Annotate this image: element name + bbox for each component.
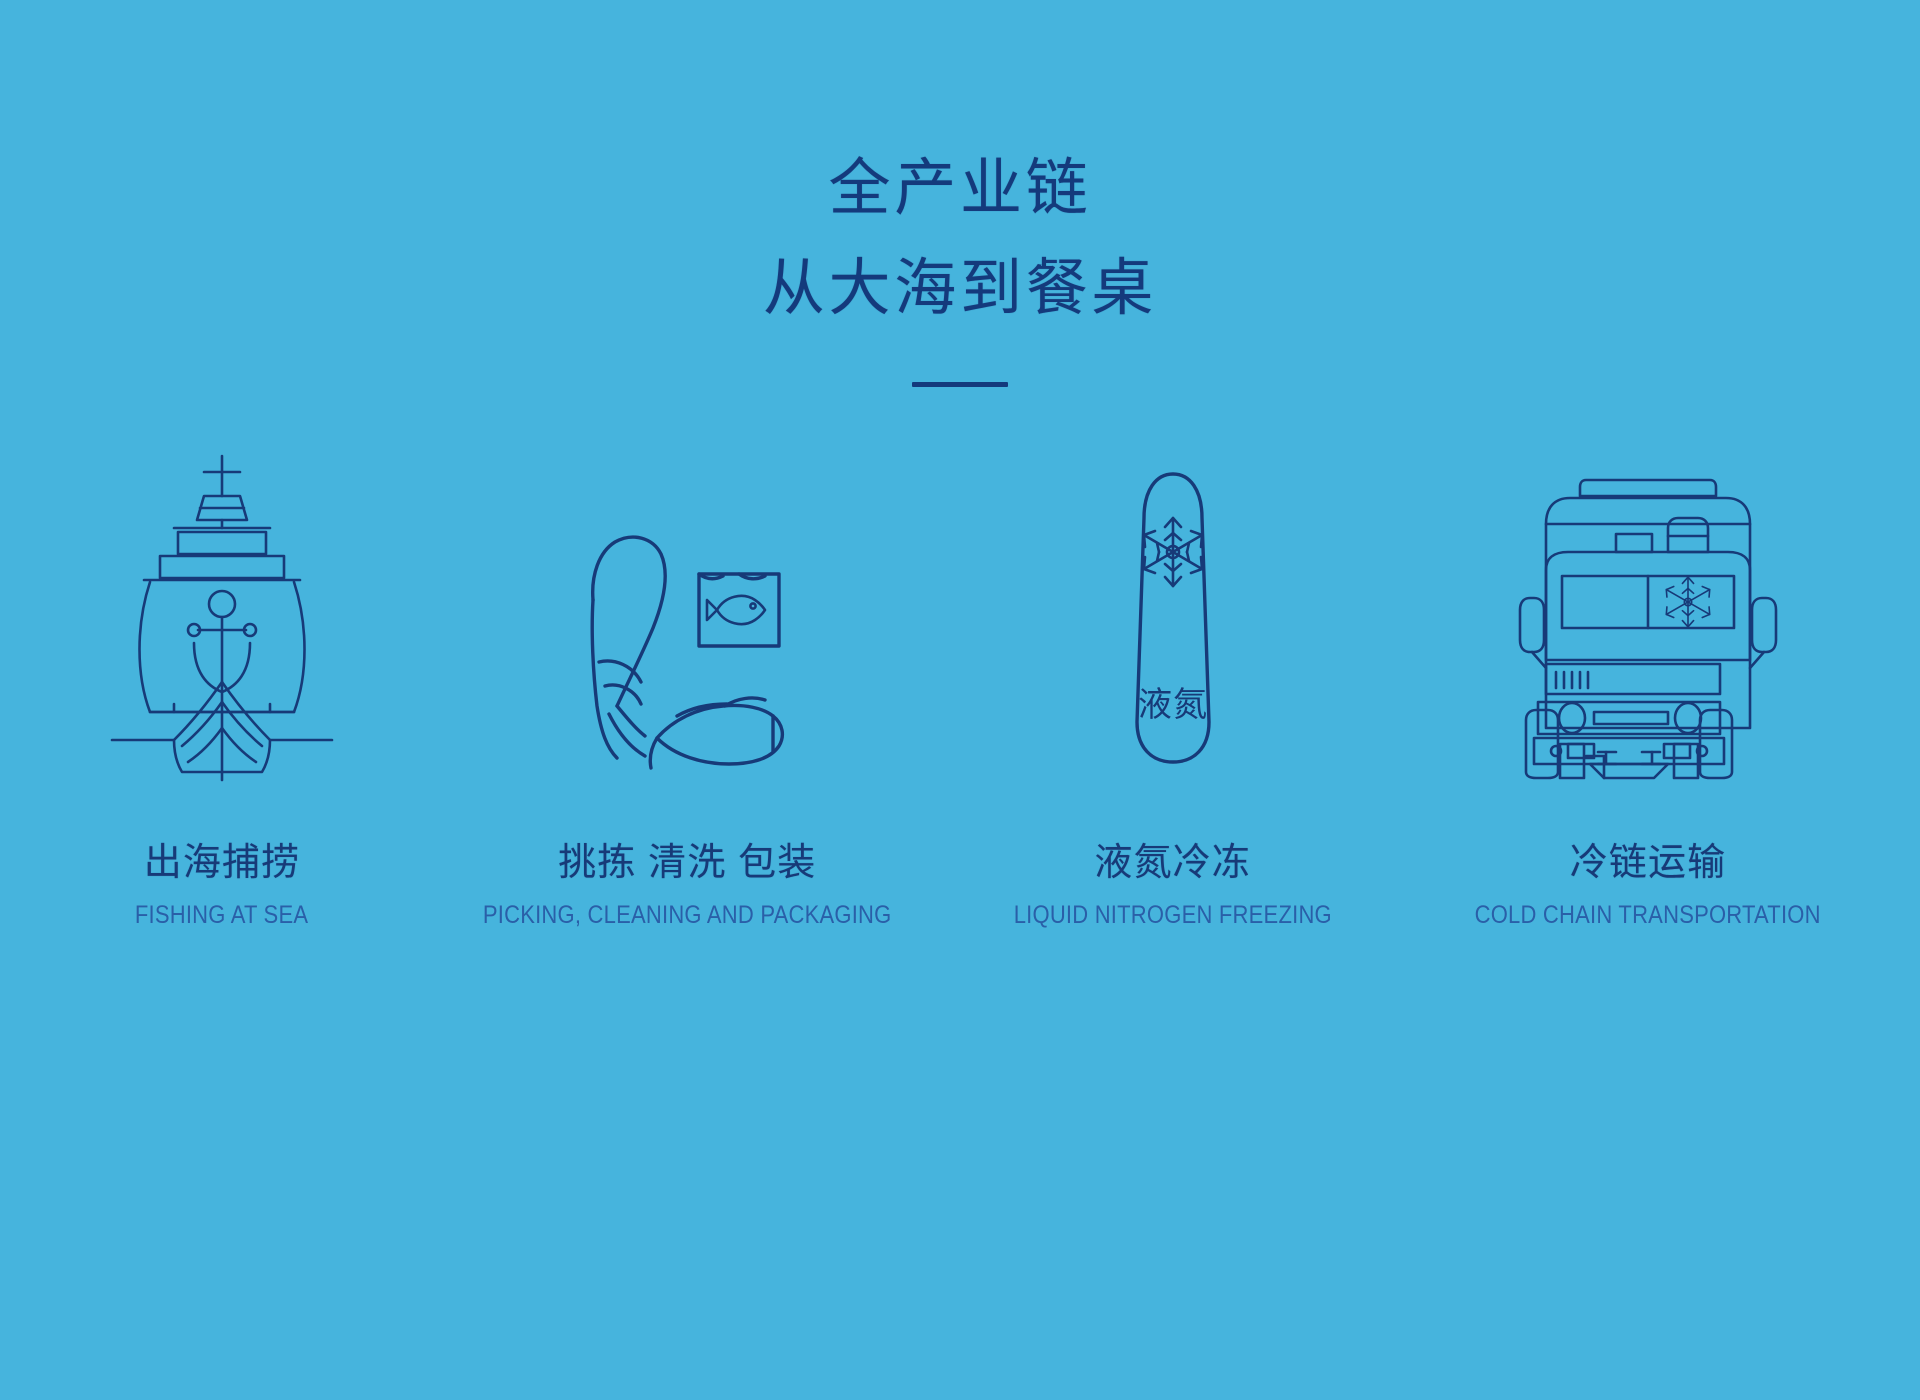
page-header: 全产业链 从大海到餐桌 [0, 150, 1920, 387]
step-liquid-nitrogen-freezing[interactable]: 液氮 液氮冷冻 LIQUID NITROGEN FREEZING [953, 430, 1393, 930]
step-picking-cleaning-packaging[interactable]: 挑拣 清洗 包装 PICKING, CLEANING AND PACKAGING [427, 430, 947, 930]
page-title-line-1: 全产业链 [0, 150, 1920, 228]
step-label-en: FISHING AT SEA [135, 900, 308, 930]
step-label-cn: 液氮冷冻 [1094, 840, 1251, 886]
page-title-line-2: 从大海到餐桌 [0, 250, 1920, 328]
step-label-cn: 冷链运输 [1570, 840, 1727, 886]
liquid-nitrogen-tank-icon: 液氮 [1108, 430, 1238, 780]
step-fishing-at-sea[interactable]: 出海捕捞 FISHING AT SEA [22, 430, 422, 930]
step-label-cn: 挑拣 清洗 包装 [558, 840, 816, 886]
tank-text: 液氮 [1138, 686, 1208, 724]
step-cold-chain-transportation[interactable]: 冷链运输 COLD CHAIN TRANSPORTATION [1398, 430, 1898, 930]
fishing-boat-anchor-icon [112, 430, 332, 780]
step-label-en: COLD CHAIN TRANSPORTATION [1475, 900, 1821, 930]
infographic-page: 全产业链 从大海到餐桌 [0, 0, 1920, 1400]
cold-chain-truck-icon [1512, 430, 1784, 780]
hands-fish-package-icon [557, 430, 817, 780]
step-label-cn: 出海捕捞 [144, 840, 301, 886]
snowflake-icon [1144, 518, 1202, 586]
title-divider [912, 382, 1008, 387]
step-label-en: PICKING, CLEANING AND PACKAGING [483, 900, 892, 930]
step-label-en: LIQUID NITROGEN FREEZING [1014, 900, 1332, 930]
process-steps: 出海捕捞 FISHING AT SEA [0, 430, 1920, 930]
snowflake-icon [1666, 577, 1709, 627]
